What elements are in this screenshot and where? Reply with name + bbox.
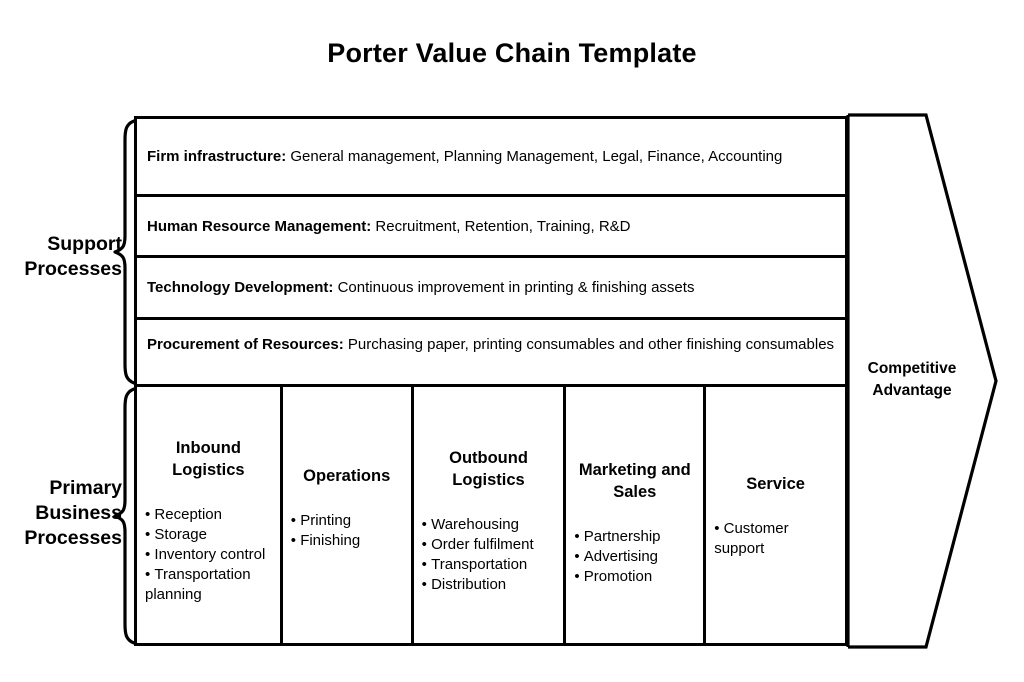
support-row-human-resource-management[interactable]: Human Resource Management: Recruitment, … <box>137 197 845 258</box>
list-item: Inventory control <box>145 545 272 565</box>
support-row-text: Technology Development: Continuous impro… <box>147 277 694 298</box>
list-item: Warehousing <box>422 515 556 535</box>
list-item: Storage <box>145 525 272 545</box>
primary-column-items: Printing Finishing <box>291 511 403 551</box>
support-processes-label: Support Processes <box>2 232 122 282</box>
primary-column-title: Operations <box>291 465 403 487</box>
support-row-detail: Purchasing paper, printing consumables a… <box>348 336 834 353</box>
list-item: Promotion <box>574 567 695 587</box>
list-item: Order fulfilment <box>422 535 556 555</box>
value-chain-diagram: Firm infrastructure: General management,… <box>134 116 848 646</box>
list-item: Transportation planning <box>145 565 272 605</box>
primary-column-items: Reception Storage Inventory control Tran… <box>145 505 272 605</box>
page-title: Porter Value Chain Template <box>0 38 1024 69</box>
support-row-heading: Procurement of Resources: <box>147 336 344 353</box>
support-row-detail: Recruitment, Retention, Training, R&D <box>375 218 630 235</box>
support-row-text: Firm infrastructure: General management,… <box>147 146 782 167</box>
list-item: Partnership <box>574 527 695 547</box>
support-processes-label-line2: Processes <box>2 257 122 282</box>
list-item: Transportation <box>422 555 556 575</box>
support-row-text: Human Resource Management: Recruitment, … <box>147 216 631 237</box>
primary-column-items: Partnership Advertising Promotion <box>574 527 695 587</box>
primary-column-title: Service <box>714 473 837 495</box>
competitive-advantage-line2: Advantage <box>852 380 972 402</box>
support-row-firm-infrastructure[interactable]: Firm infrastructure: General management,… <box>137 119 845 197</box>
support-row-heading: Firm infrastructure: <box>147 148 286 165</box>
competitive-advantage-line1: Competitive <box>852 358 972 380</box>
support-row-technology-development[interactable]: Technology Development: Continuous impro… <box>137 258 845 320</box>
primary-business-processes-label: Primary Business Processes <box>2 476 122 551</box>
primary-column-items: Customer support <box>714 519 837 559</box>
list-item: Distribution <box>422 575 556 595</box>
list-item: Advertising <box>574 547 695 567</box>
primary-label-line1: Primary <box>2 476 122 501</box>
support-row-procurement-of-resources[interactable]: Procurement of Resources: Purchasing pap… <box>137 320 845 387</box>
list-item: Finishing <box>291 531 403 551</box>
primary-label-line3: Processes <box>2 526 122 551</box>
primary-column-inbound-logistics[interactable]: Inbound Logistics Reception Storage Inve… <box>137 387 283 643</box>
support-row-detail: General management, Planning Management,… <box>290 148 782 165</box>
support-processes-block: Firm infrastructure: General management,… <box>134 116 848 384</box>
primary-label-line2: Business <box>2 501 122 526</box>
support-row-detail: Continuous improvement in printing & fin… <box>338 279 695 296</box>
support-row-heading: Human Resource Management: <box>147 218 371 235</box>
primary-column-outbound-logistics[interactable]: Outbound Logistics Warehousing Order ful… <box>414 387 567 643</box>
list-item: Customer support <box>714 519 837 559</box>
support-row-text: Procurement of Resources: Purchasing pap… <box>147 334 834 355</box>
primary-column-title: Inbound Logistics <box>145 437 272 481</box>
primary-processes-block: Inbound Logistics Reception Storage Inve… <box>134 384 848 646</box>
primary-column-marketing-and-sales[interactable]: Marketing and Sales Partnership Advertis… <box>566 387 706 643</box>
list-item: Printing <box>291 511 403 531</box>
competitive-advantage-label: Competitive Advantage <box>852 358 972 402</box>
primary-column-items: Warehousing Order fulfilment Transportat… <box>422 515 556 595</box>
primary-column-operations[interactable]: Operations Printing Finishing <box>283 387 414 643</box>
primary-column-title: Outbound Logistics <box>422 447 556 491</box>
support-row-heading: Technology Development: <box>147 279 333 296</box>
primary-column-service[interactable]: Service Customer support <box>706 387 845 643</box>
list-item: Reception <box>145 505 272 525</box>
primary-column-title: Marketing and Sales <box>574 459 695 503</box>
support-processes-label-line1: Support <box>2 232 122 257</box>
